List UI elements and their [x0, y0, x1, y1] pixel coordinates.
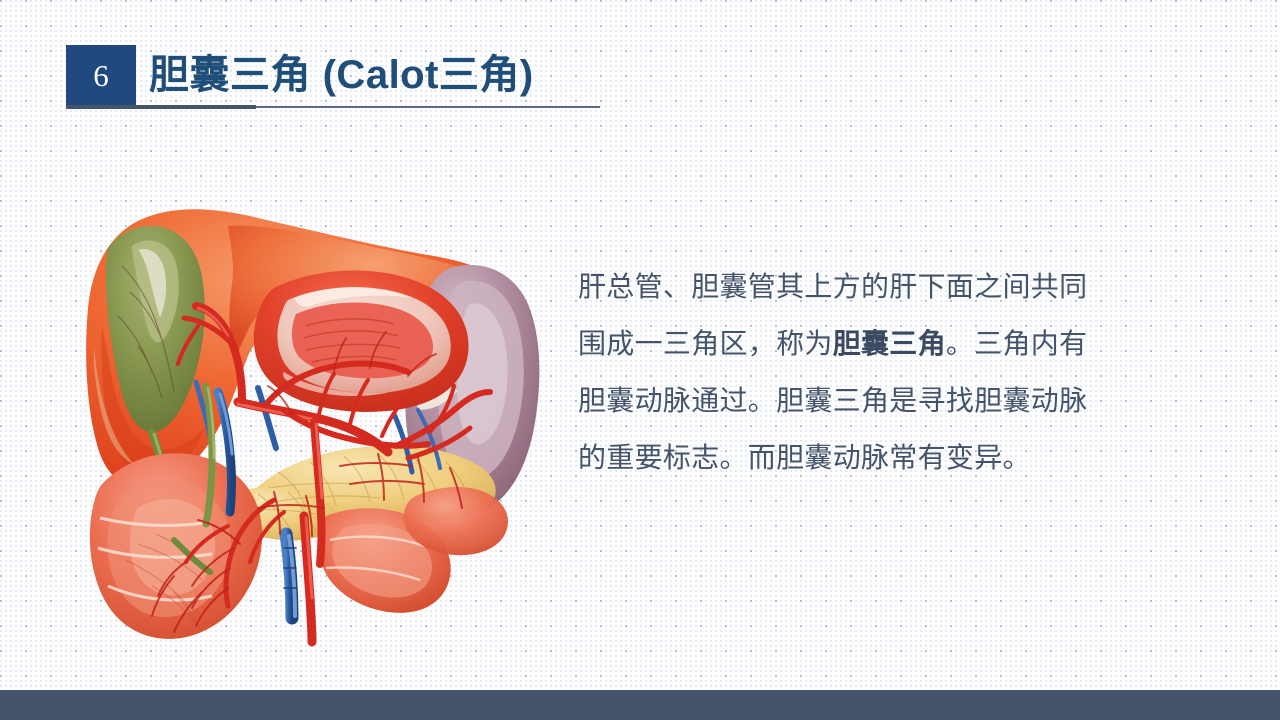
- footer-bar: [0, 690, 1280, 720]
- page-title: 胆囊三角 (Calot三角): [149, 45, 534, 105]
- body-text-emphasis: 胆囊三角: [833, 328, 946, 359]
- title-underline-thin: [256, 106, 600, 108]
- body-paragraph: 肝总管、胆囊管其上方的肝下面之间共同围成一三角区，称为胆囊三角。三角内有胆囊动脉…: [578, 258, 1106, 486]
- title-underline-thick: [66, 105, 256, 109]
- slide-number-text: 6: [93, 60, 109, 91]
- slide-number-badge: 6: [66, 45, 136, 105]
- hepatobiliary-anatomy-illustration: [78, 196, 543, 652]
- slide-title-block: 6 胆囊三角 (Calot三角): [66, 45, 534, 105]
- slide-canvas: 6 胆囊三角 (Calot三角): [0, 0, 1280, 720]
